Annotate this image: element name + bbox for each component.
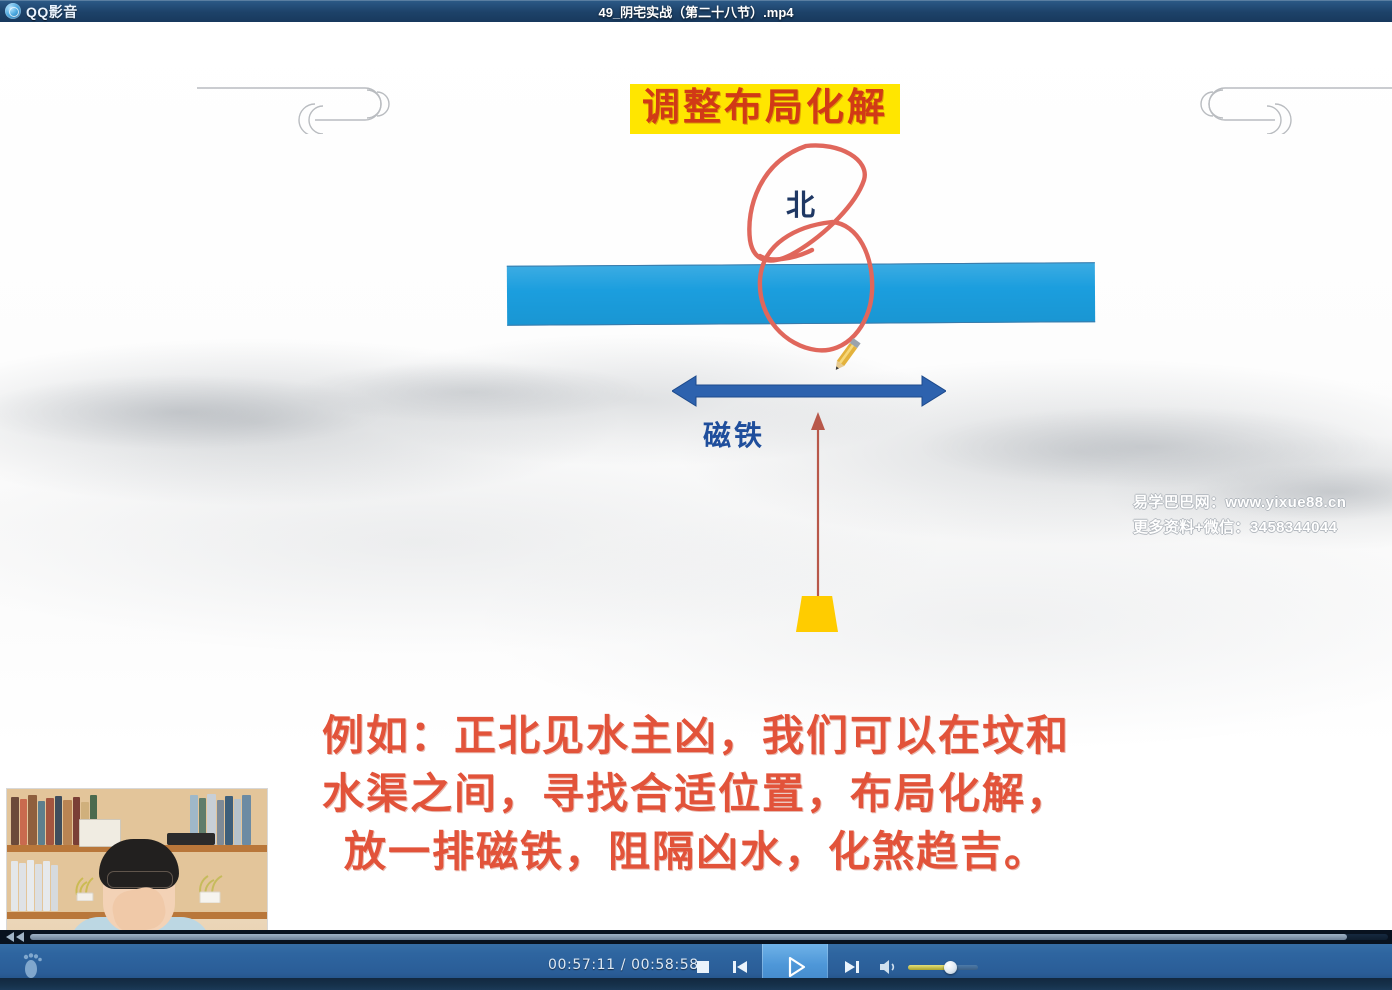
volume-speaker-icon [877, 956, 899, 978]
webcam-book [27, 860, 34, 911]
seek-bar[interactable] [30, 934, 1388, 940]
webcam-book [19, 863, 26, 911]
webcam-book [55, 796, 62, 845]
next-track-icon [841, 956, 863, 978]
rewind-double-left-icon[interactable] [2, 931, 28, 943]
volume-slider-knob[interactable] [944, 961, 957, 974]
desktop-taskbar-strip [0, 978, 1392, 990]
webcam-book [46, 798, 54, 845]
seek-bar-fill [30, 934, 1347, 940]
webcam-book [11, 861, 18, 911]
footprint-icon[interactable] [22, 952, 48, 980]
webcam-plant-right-icon [193, 873, 229, 903]
file-title-label: 49_阴宅实战（第二十八节）.mp4 [0, 2, 1392, 21]
time-display: 00:57:11 / 00:58:58 [548, 957, 699, 973]
magnet-label: 磁铁 [703, 414, 765, 454]
webcam-shelf-box [167, 833, 215, 845]
red-annotation-scribble [700, 140, 930, 390]
tomb-to-magnet-arrow [800, 410, 836, 600]
volume-slider[interactable] [908, 962, 978, 972]
webcam-book [35, 864, 42, 911]
webcam-book [38, 801, 45, 845]
magnet-double-arrow [672, 372, 946, 410]
pencil-cursor-icon [826, 335, 866, 375]
webcam-book [217, 800, 224, 845]
title-bar: QQ影音 49_阴宅实战（第二十八节）.mp4 [0, 0, 1392, 23]
slide-heading: 调整布局化解 [630, 84, 900, 134]
previous-track-icon [729, 956, 751, 978]
cloud-ornament-right-icon [1155, 74, 1392, 134]
webcam-book [51, 865, 58, 911]
webcam-book [63, 800, 72, 845]
watermark-line-1: 易学巴巴网：www.yixue88.cn [1133, 490, 1346, 515]
cloud-ornament-left-icon [195, 74, 435, 134]
webcam-book [242, 795, 251, 845]
webcam-plant-left-icon [71, 875, 101, 901]
video-stage[interactable]: 调整布局化解 北 [0, 22, 1392, 930]
webcam-picture-frame [79, 819, 121, 847]
webcam-book [234, 799, 241, 845]
webcam-book [11, 797, 19, 845]
watermark-line-2: 更多资料+微信：3458344044 [1133, 515, 1346, 540]
webcam-book [28, 795, 37, 845]
webcam-person-glasses [107, 871, 173, 888]
tomb-shape [796, 596, 838, 632]
qq-player-window: QQ影音 49_阴宅实战（第二十八节）.mp4 [0, 0, 1392, 990]
webcam-book [225, 796, 233, 845]
webcam-book [43, 861, 50, 911]
webcam-book [20, 799, 27, 845]
caption-line-1: 例如：正北见水主凶，我们可以在坟和 [0, 707, 1392, 765]
progress-bar-row [0, 930, 1392, 944]
presenter-webcam-overlay [6, 788, 268, 930]
site-watermark: 易学巴巴网：www.yixue88.cn 更多资料+微信：3458344044 [1133, 490, 1346, 540]
stop-icon [692, 956, 714, 978]
play-icon [781, 953, 809, 981]
